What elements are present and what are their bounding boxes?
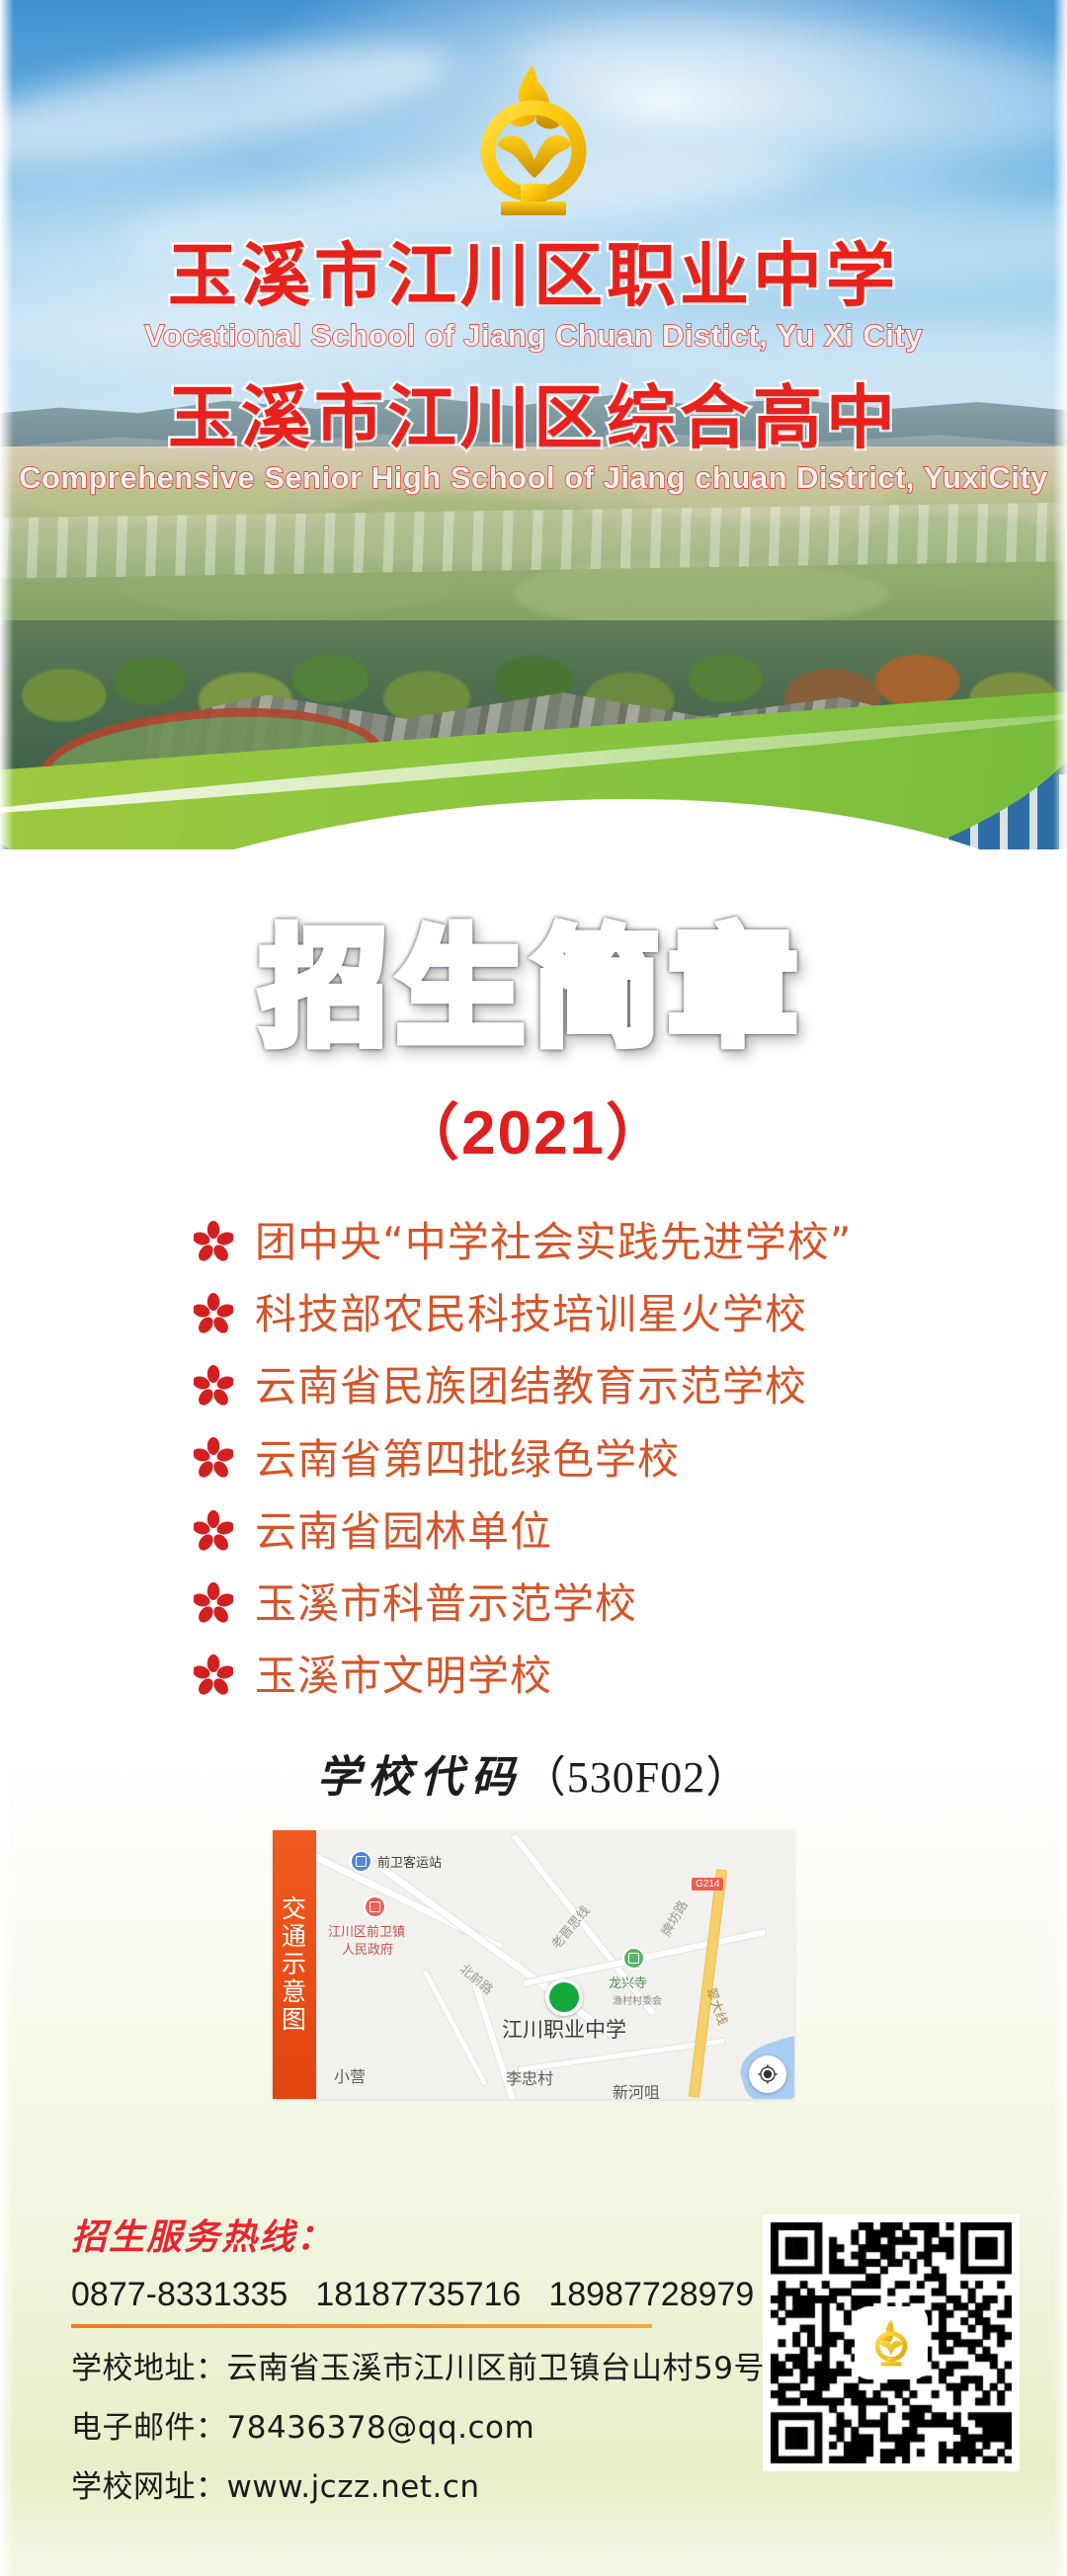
school-website[interactable]: 学校网址：www.jczz.net.cn	[71, 2461, 703, 2506]
school-name-cn-2: 玉溪市江川区综合高中	[0, 383, 1067, 452]
year-label: （2021）	[0, 1083, 1067, 1171]
honor-text: 科技部农民科技培训星火学校	[255, 1289, 807, 1339]
map-canvas[interactable]: 前卫客运站 江川区前卫镇 人民政府 龙兴寺 渔村村委会 江川职业中学 小营 李忠…	[316, 1830, 794, 2099]
map-label-school: 江川职业中学	[502, 2014, 626, 2044]
list-item: 玉溪市文明学校	[194, 1650, 1067, 1701]
honor-text: 玉溪市文明学校	[255, 1650, 552, 1701]
honor-text: 云南省第四批绿色学校	[255, 1434, 680, 1485]
list-item: 团中央“中学社会实践先进学校”	[194, 1217, 1067, 1267]
locate-me-button[interactable]	[749, 2055, 786, 2093]
map-label-xinheju: 新河咀	[613, 2079, 660, 2099]
recruitment-poster: 玉溪市江川区职业中学 Vocational School of Jiang Ch…	[0, 0, 1067, 2576]
school-name-cn: 玉溪市江川区职业中学	[0, 241, 1067, 310]
map-highway	[690, 1870, 726, 2096]
map-label-temple: 龙兴寺	[609, 1972, 647, 1991]
school-name-en-2: Comprehensive Senior High School of Jian…	[0, 460, 1067, 496]
flower-asterisk-icon	[194, 1365, 233, 1409]
school-email: 电子邮件：78436378@qq.com	[71, 2402, 703, 2447]
flower-asterisk-icon	[194, 1293, 233, 1336]
map-label-government-1: 江川区前卫镇	[328, 1921, 405, 1940]
phone-number[interactable]: 18187735716	[315, 2276, 521, 2313]
bus-station-icon	[350, 1850, 372, 1873]
map-label-xiaoying: 小营	[334, 2063, 366, 2087]
map-label-bus-station: 前卫客运站	[377, 1852, 442, 1871]
flower-asterisk-icon	[194, 1510, 233, 1554]
honor-text: 团中央“中学社会实践先进学校”	[255, 1217, 853, 1267]
school-name-en: Vocational School of Jiang Chuan Distict…	[0, 318, 1067, 354]
phone-number[interactable]: 0877-8331335	[71, 2276, 287, 2313]
honor-text: 云南省民族团结教育示范学校	[255, 1361, 807, 1411]
school-address: 学校地址：云南省玉溪市江川区前卫镇台山村59号	[71, 2343, 703, 2387]
footer-contact: 招生服务热线： 0877-833133518187735716189877289…	[0, 2209, 1067, 2576]
honors-list: 团中央“中学社会实践先进学校” 科技部农民科技培训星火学校	[0, 1217, 1067, 1702]
list-item: 云南省民族团结教育示范学校	[194, 1361, 1067, 1411]
phone-numbers: 0877-83313351818773571618987728979	[71, 2276, 703, 2314]
flower-asterisk-icon	[194, 1437, 233, 1481]
map-tab-label: 交通示意图	[273, 1830, 316, 2099]
map-label-lizhongcun: 李忠村	[506, 2065, 553, 2089]
page-title: 招生简章	[261, 926, 806, 1053]
flower-asterisk-icon	[194, 1654, 233, 1698]
location-map[interactable]: 交通示意图 前卫客运站 江川区前卫镇 人民政府 龙	[273, 1830, 794, 2099]
honor-text: 云南省园林单位	[255, 1506, 552, 1557]
headline-wrapper: 招生简章	[0, 849, 1067, 1053]
footer-divider	[71, 2324, 652, 2328]
school-code-label: 学校代码	[317, 1752, 523, 1803]
government-icon	[364, 1895, 386, 1918]
qr-center-logo-icon	[857, 2308, 926, 2377]
map-label-government-2: 人民政府	[342, 1939, 393, 1958]
list-item: 云南省第四批绿色学校	[194, 1434, 1067, 1485]
map-road-label-paifanglu: 牌坊路	[656, 1896, 692, 1939]
school-code: 学校代码（530F02）	[0, 1741, 1067, 1805]
school-code-value: （530F02）	[523, 1753, 750, 1802]
hotline-label: 招生服务热线：	[71, 2209, 703, 2260]
list-item: 云南省园林单位	[194, 1506, 1067, 1557]
header-titles: 玉溪市江川区职业中学 Vocational School of Jiang Ch…	[0, 241, 1067, 496]
qr-code[interactable]	[763, 2214, 1020, 2471]
highway-shield: G214	[692, 1878, 723, 1891]
school-location-pin	[545, 1978, 583, 2016]
list-item: 玉溪市科普示范学校	[194, 1578, 1067, 1629]
honor-text: 玉溪市科普示范学校	[255, 1578, 637, 1629]
map-label-village-committee: 渔村村委会	[613, 1992, 662, 2007]
phone-number[interactable]: 18987728979	[548, 2276, 754, 2313]
list-item: 科技部农民科技培训星火学校	[194, 1289, 1067, 1339]
temple-icon	[622, 1947, 645, 1970]
school-emblem-gold-icon	[450, 57, 617, 225]
flower-asterisk-icon	[194, 1221, 233, 1264]
flower-asterisk-icon	[194, 1582, 233, 1626]
map-tab-char: 交通示意图	[282, 1895, 307, 2034]
footer-left-column: 招生服务热线： 0877-833133518187735716189877289…	[71, 2209, 703, 2506]
